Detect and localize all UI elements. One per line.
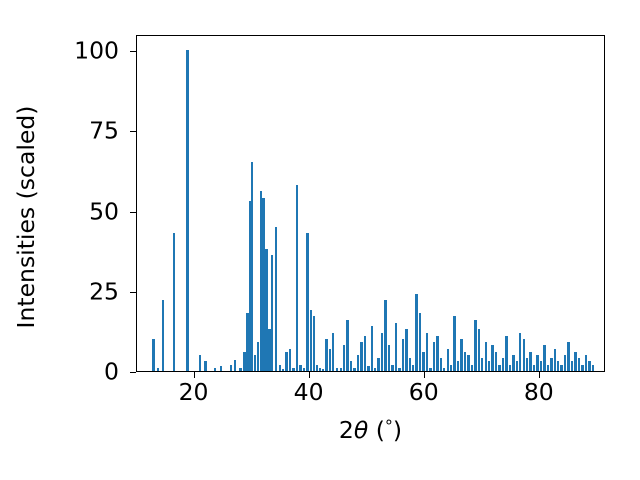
bar: [536, 355, 538, 371]
bar: [313, 316, 315, 371]
bar: [436, 336, 438, 371]
bar: [353, 368, 355, 371]
x-axis-label: 2θ (°): [136, 416, 605, 444]
bar: [329, 349, 331, 371]
bar: [398, 368, 400, 371]
bar: [550, 358, 552, 371]
y-tick-label: 50: [89, 200, 119, 224]
bar: [457, 361, 459, 371]
bar: [516, 361, 518, 371]
bar: [346, 320, 348, 371]
bar: [564, 355, 566, 371]
bar: [299, 365, 301, 371]
bar: [306, 233, 308, 371]
bar: [422, 352, 424, 371]
bar: [282, 369, 284, 371]
bar: [367, 366, 369, 371]
x-axis-label-theta: θ: [354, 416, 368, 444]
bar: [271, 255, 273, 371]
bar: [289, 349, 291, 371]
bar: [275, 227, 277, 371]
bar: [460, 339, 462, 371]
bar: [529, 352, 531, 371]
bar: [440, 358, 442, 371]
bar: [519, 333, 521, 372]
bar: [381, 333, 383, 372]
bar: [296, 185, 298, 371]
bar: [303, 368, 305, 371]
bar: [343, 345, 345, 371]
bar: [214, 368, 216, 371]
bar: [533, 365, 535, 371]
bar: [409, 358, 411, 371]
bar: [554, 349, 556, 371]
bar: [364, 336, 366, 371]
bar: [450, 365, 452, 371]
bar: [464, 352, 466, 371]
bar: [336, 368, 338, 371]
bar: [230, 365, 232, 371]
bar: [412, 365, 414, 371]
bar: [491, 345, 493, 371]
bar: [239, 368, 241, 371]
x-axis-label-open: (: [368, 416, 385, 444]
bar: [251, 162, 253, 371]
bar: [332, 333, 334, 372]
x-axis-label-prefix: 2: [339, 416, 354, 444]
bar: [495, 352, 497, 371]
x-tick-label: 80: [524, 381, 554, 405]
bar: [322, 369, 324, 371]
bar: [505, 336, 507, 371]
bar: [310, 310, 312, 371]
xrd-figure: Intensities (scaled) 0255075100 20406080…: [0, 0, 640, 480]
bar: [173, 233, 175, 371]
bar: [388, 345, 390, 371]
plot-area: [136, 35, 605, 372]
bar: [471, 365, 473, 371]
bar: [426, 333, 428, 372]
bar: [592, 365, 594, 371]
bar: [578, 358, 580, 371]
bar: [540, 361, 542, 371]
bar: [560, 365, 562, 371]
bar: [488, 361, 490, 371]
bar: [481, 358, 483, 371]
bar: [292, 368, 294, 371]
bar: [585, 355, 587, 371]
y-tick-label: 100: [74, 39, 119, 63]
y-axis: 0255075100: [0, 0, 136, 480]
x-tick-label: 40: [294, 381, 324, 405]
bar: [357, 355, 359, 371]
bar: [526, 358, 528, 371]
bar: [374, 368, 376, 371]
x-tick-label: 20: [179, 381, 209, 405]
bar: [571, 361, 573, 371]
bar: [543, 345, 545, 371]
bar: [498, 365, 500, 371]
bar: [523, 339, 525, 371]
bar: [186, 50, 188, 371]
bar: [377, 358, 379, 371]
bar: [485, 342, 487, 371]
y-tick-label: 75: [89, 120, 119, 144]
bar: [152, 339, 154, 371]
bar: [360, 342, 362, 371]
bar: [325, 339, 327, 371]
bar: [415, 294, 417, 371]
bar: [433, 342, 435, 371]
bar: [502, 358, 504, 371]
bar: [512, 355, 514, 371]
bar: [199, 355, 201, 371]
bar: [340, 368, 342, 371]
y-tick-label: 0: [104, 360, 119, 384]
bar: [157, 368, 159, 371]
bar: [557, 361, 559, 371]
y-tick-label: 25: [89, 280, 119, 304]
bar: [588, 361, 590, 371]
bar: [567, 342, 569, 371]
bars-layer: [137, 36, 604, 371]
y-tick-mark: [130, 372, 136, 373]
x-tick-label: 60: [409, 381, 439, 405]
bar: [371, 326, 373, 371]
bar: [391, 365, 393, 371]
bar: [405, 329, 407, 371]
bar: [279, 365, 281, 371]
bar: [453, 316, 455, 371]
bar: [474, 320, 476, 371]
bar: [443, 368, 445, 371]
bar: [447, 349, 449, 371]
bar: [547, 365, 549, 371]
bar: [429, 368, 431, 371]
x-axis-label-close: ): [393, 416, 402, 444]
bar: [419, 313, 421, 371]
bar: [478, 329, 480, 371]
bar: [402, 339, 404, 371]
bar: [574, 352, 576, 371]
degree-symbol-icon: °: [385, 416, 393, 435]
bar: [234, 360, 236, 371]
bar: [395, 323, 397, 371]
bar: [384, 300, 386, 371]
bar: [204, 361, 206, 371]
bar: [467, 355, 469, 371]
bar: [220, 366, 222, 371]
bar: [162, 300, 164, 371]
bar: [285, 352, 287, 371]
bar: [350, 361, 352, 371]
bar: [581, 365, 583, 371]
bar: [509, 365, 511, 371]
